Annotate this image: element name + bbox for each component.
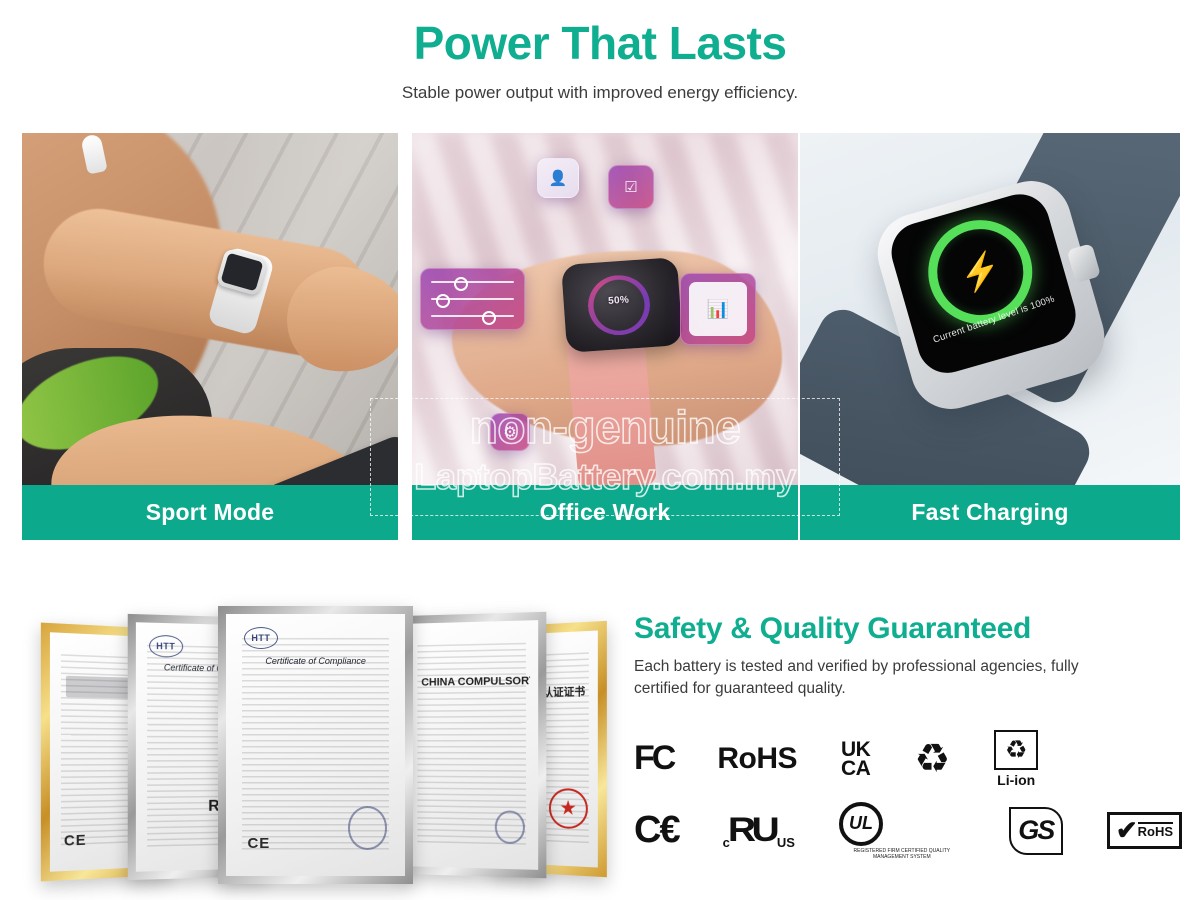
ce-mark-cert-3: CE [247, 835, 270, 852]
person-icon: 👤 [538, 159, 578, 197]
rohs-checkmark: ✔ [1116, 817, 1138, 843]
red-star-seal-cert-5: ★ [549, 788, 588, 829]
certificate-4: CHINA COMPULSORY PRODUCT CERTIFICATION [398, 612, 546, 878]
rohs-tick-caption: RoHS [1138, 822, 1173, 839]
gs-icon: GS [1009, 807, 1063, 855]
rohs-icon: RoHS [717, 742, 797, 776]
check-square-icon: ☑ [609, 166, 653, 208]
fcc-icon: FC [634, 739, 673, 778]
fast-charging-photo: ⚡ Current battery level is 100% [800, 133, 1180, 485]
feature-card-office-work[interactable]: 50% 👤 ☑ 📊 ⚙ [412, 133, 798, 540]
page-title: Power That Lasts [0, 18, 1200, 69]
ul-listed-icon: UL REGISTERED FIRM CERTIFIED QUALITY MAN… [839, 802, 965, 861]
li-ion-recycle-glyph: ♻ [994, 730, 1038, 770]
c-ul-us-mark: RU [728, 811, 775, 850]
contact-tile: 👤 [537, 158, 579, 198]
li-ion-caption: Li-ion [994, 772, 1038, 788]
chart-tile: 📊 [680, 273, 756, 345]
certification-badge-row-1: FC RoHS UK CA ♻ ♻ Li-ion [634, 723, 1182, 795]
ce-mark-cert-1: CE [64, 832, 87, 850]
sport-mode-photo [22, 133, 398, 485]
seal-cert-3 [348, 806, 387, 849]
li-ion-recycle-icon: ♻ Li-ion [994, 730, 1038, 788]
ul-mark: UL [839, 802, 883, 846]
c-ul-us-icon: c RU US [723, 811, 795, 850]
settings-sliders-tile [420, 268, 525, 330]
ce-icon: C€ [634, 809, 679, 852]
feature-card-row: Sport Mode 50% 👤 [0, 133, 1200, 540]
rohs-tick-icon: ✔ RoHS [1107, 812, 1182, 849]
feature-card-fast-charging[interactable]: ⚡ Current battery level is 100% Fast Cha… [800, 133, 1180, 540]
bottom-section: CE HTT Certificate of Compliance RoHS HT… [0, 590, 1200, 900]
certificate-3: HTT Certificate of Compliance CE [218, 606, 413, 884]
certification-badges: FC RoHS UK CA ♻ ♻ Li-ion [634, 723, 1182, 867]
seal-cert-4 [495, 810, 525, 844]
gear-tile: ⚙ [490, 413, 530, 451]
ul-caption: REGISTERED FIRM CERTIFIED QUALITY MANAGE… [839, 848, 965, 861]
ukca-line-2: CA [841, 757, 870, 780]
page-subtitle: Stable power output with improved energy… [0, 83, 1200, 103]
feature-card-sport-mode[interactable]: Sport Mode [22, 133, 398, 540]
safety-title: Safety & Quality Guaranteed [634, 612, 1182, 646]
ukca-icon: UK CA [841, 740, 870, 779]
safety-subtitle: Each battery is tested and verified by p… [634, 656, 1104, 701]
hero-section: Power That Lasts Stable power output wit… [0, 0, 1200, 103]
bar-chart-icon: 📊 [689, 282, 747, 336]
gear-icon: ⚙ [491, 414, 529, 450]
promo-page: Power That Lasts Stable power output wit… [0, 0, 1200, 900]
certificate-collage: CE HTT Certificate of Compliance RoHS HT… [18, 598, 608, 888]
feature-card-label-sport-mode: Sport Mode [22, 485, 398, 540]
recycle-icon: ♻ [914, 739, 950, 779]
certification-badge-row-2: C€ c RU US UL REGISTERED FIRM CERTIFIED … [634, 795, 1182, 867]
feature-card-label-office-work: Office Work [412, 485, 798, 540]
office-work-photo: 50% 👤 ☑ 📊 ⚙ [412, 133, 798, 485]
c-ul-us-suffix: US [777, 835, 795, 850]
safety-section: Safety & Quality Guaranteed Each battery… [634, 612, 1182, 867]
checklist-tile: ☑ [608, 165, 654, 209]
feature-card-label-fast-charging: Fast Charging [800, 485, 1180, 540]
